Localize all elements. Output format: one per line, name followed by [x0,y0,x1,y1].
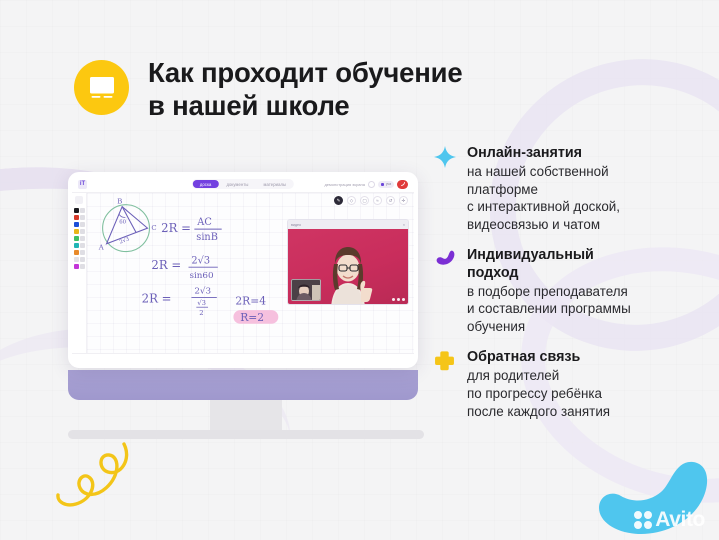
feature-item-online-lessons: Онлайн-занятия на нашей собственной плат… [432,144,708,233]
tab-documents[interactable]: документы [219,180,255,188]
formula-answer: R=2 [233,310,278,324]
student-pip-video[interactable] [291,279,321,301]
participants-label: учз [386,182,391,186]
stroke-preview [80,243,85,248]
share-screen-label[interactable]: демонстрация экрана [324,182,365,187]
whiteboard[interactable]: ✎ ◇ ▢ ≈ ↺ ✛ [87,193,414,353]
svg-text:2: 2 [199,309,203,317]
feature-text: Онлайн-занятия на нашей собственной плат… [467,144,620,233]
learning-app: iT доска документы материалы демонстраци… [72,176,414,364]
formula-4: 2R=4 [235,294,266,307]
swatch-row[interactable] [74,236,85,241]
tab-board[interactable]: доска [193,180,219,188]
swatch-green[interactable] [74,236,79,241]
swatch-row[interactable] [74,250,85,255]
swatch-row[interactable] [74,257,85,262]
swatch-red[interactable] [74,215,79,220]
svg-text:2R =: 2R = [151,258,181,272]
feature-icon-wrap [432,348,457,373]
label-A: A [98,244,104,252]
swatch-blue[interactable] [74,222,79,227]
swatch-grey[interactable] [74,257,79,262]
swatch-row[interactable] [74,243,85,248]
participants-icon [381,183,384,186]
formula-3: 2R = 2√3 √3 2 [142,287,217,317]
crescent-icon [434,248,456,270]
avito-watermark: Avito [634,509,705,530]
feature-item-feedback: Обратная связь для родителей по прогресс… [432,348,708,420]
swatch-row[interactable] [74,222,85,227]
pen-tool-icon[interactable]: ✎ [334,196,343,205]
stroke-preview [80,257,85,262]
stroke-preview [80,264,85,269]
svg-text:R=2: R=2 [240,311,264,324]
label-B: B [117,198,122,206]
svg-text:sin60: sin60 [189,271,213,281]
more-dot [392,298,396,302]
video-panel-title: видео [291,223,301,227]
swatch-row[interactable] [74,215,85,220]
monitor-illustration: iT доска документы материалы демонстраци… [68,172,424,439]
close-icon[interactable]: × [403,223,405,227]
svg-text:AC: AC [196,217,212,228]
shape-tool-icon[interactable]: ◇ [347,196,356,205]
video-more-options[interactable] [392,298,406,302]
video-panel-header: видео × [288,220,408,229]
text-tool-icon[interactable]: ≈ [373,196,382,205]
feature-icon-wrap [432,246,457,271]
app-footer [72,353,414,364]
swatch-yellow[interactable] [74,229,79,234]
undo-tool-icon[interactable]: ↺ [386,196,395,205]
feature-description: в подборе преподавателя и составлении пр… [467,283,631,336]
monitor-icon [87,75,117,101]
lock-icon[interactable] [75,196,83,204]
plus-icon [434,350,455,371]
color-palette-rail [72,193,87,353]
stroke-preview [80,236,85,241]
avito-wordmark: Avito [655,509,705,530]
stroke-preview [80,215,85,220]
svg-text:sinB: sinB [196,232,218,243]
logo-dot [634,511,642,519]
formula-2: 2R = 2√3 sin60 [151,255,217,281]
page-title: Как проходит обучение в нашей школе [148,56,462,123]
app-logo: iT [78,180,87,189]
feature-description: для родителей по прогрессу ребёнка после… [467,367,610,420]
video-stage [288,229,408,304]
monitor-chin [68,370,418,400]
svg-text:2√3: 2√3 [194,287,211,297]
app-topbar-actions: демонстрация экрана учз [324,180,408,189]
more-dot [397,298,401,302]
eraser-tool-icon[interactable]: ▢ [360,196,369,205]
swatch-magenta[interactable] [74,264,79,269]
app-tab-group: доска документы материалы [192,179,294,189]
swatch-orange[interactable] [74,250,79,255]
feature-description: на нашей собственной платформе с интерак… [467,163,620,233]
geometry-figure [103,205,150,252]
feature-text: Индивидуальный подход в подборе преподав… [467,246,631,335]
end-call-button[interactable] [397,180,408,189]
formula-1: 2R = AC sinB [161,217,222,243]
swatch-row[interactable] [74,264,85,269]
more-dot [402,298,406,302]
feature-title: Онлайн-занятия [467,145,620,162]
logo-dot [644,521,652,529]
stroke-preview [80,229,85,234]
label-C: C [151,224,156,232]
tab-materials[interactable]: материалы [257,180,294,188]
thumbs-up-icon [360,281,372,302]
feature-item-individual-approach: Индивидуальный подход в подборе преподав… [432,246,708,335]
add-tool-icon[interactable]: ✛ [399,196,408,205]
swatch-teal[interactable] [74,243,79,248]
logo-dot [644,511,652,519]
drawing-toolbar: ✎ ◇ ▢ ≈ ↺ ✛ [334,196,408,205]
swatch-row[interactable] [74,208,85,213]
teacher-avatar [321,244,375,304]
poster-canvas: Как проходит обучение в нашей школе iT д… [0,0,719,540]
stroke-preview [80,208,85,213]
label-side-2sqrt3: 2√3 [118,235,131,246]
app-topbar: iT доска документы материалы демонстраци… [72,176,414,193]
features-list: Онлайн-занятия на нашей собственной плат… [432,144,708,433]
svg-text:√3: √3 [197,299,206,307]
svg-text:2√3: 2√3 [191,255,210,266]
settings-icon[interactable] [368,181,375,188]
swatch-black[interactable] [74,208,79,213]
header: Как проходит обучение в нашей школе [74,56,462,123]
feature-icon-wrap [432,144,457,169]
header-badge [74,60,129,115]
student-avatar [292,280,321,301]
feature-title: Обратная связь [467,349,610,366]
monitor-screen: iT доска документы материалы демонстраци… [68,172,418,368]
star-icon [434,146,456,168]
stroke-preview [80,222,85,227]
app-body: ✎ ◇ ▢ ≈ ↺ ✛ [72,193,414,353]
avito-logo-dots [634,511,652,529]
video-call-panel: видео × [287,219,409,305]
monitor-stand-neck [210,400,282,430]
stroke-preview [80,250,85,255]
label-angle-60: 60 [119,219,126,225]
logo-dot [634,521,642,529]
squiggle-decoration [28,438,138,518]
svg-text:2R =: 2R = [161,221,191,235]
swatch-row[interactable] [74,229,85,234]
phone-hangup-icon [400,181,406,187]
feature-text: Обратная связь для родителей по прогресс… [467,348,610,420]
feature-title: Индивидуальный подход [467,247,631,281]
svg-text:2R =: 2R = [142,291,172,305]
participants-indicator[interactable]: учз [378,181,394,188]
